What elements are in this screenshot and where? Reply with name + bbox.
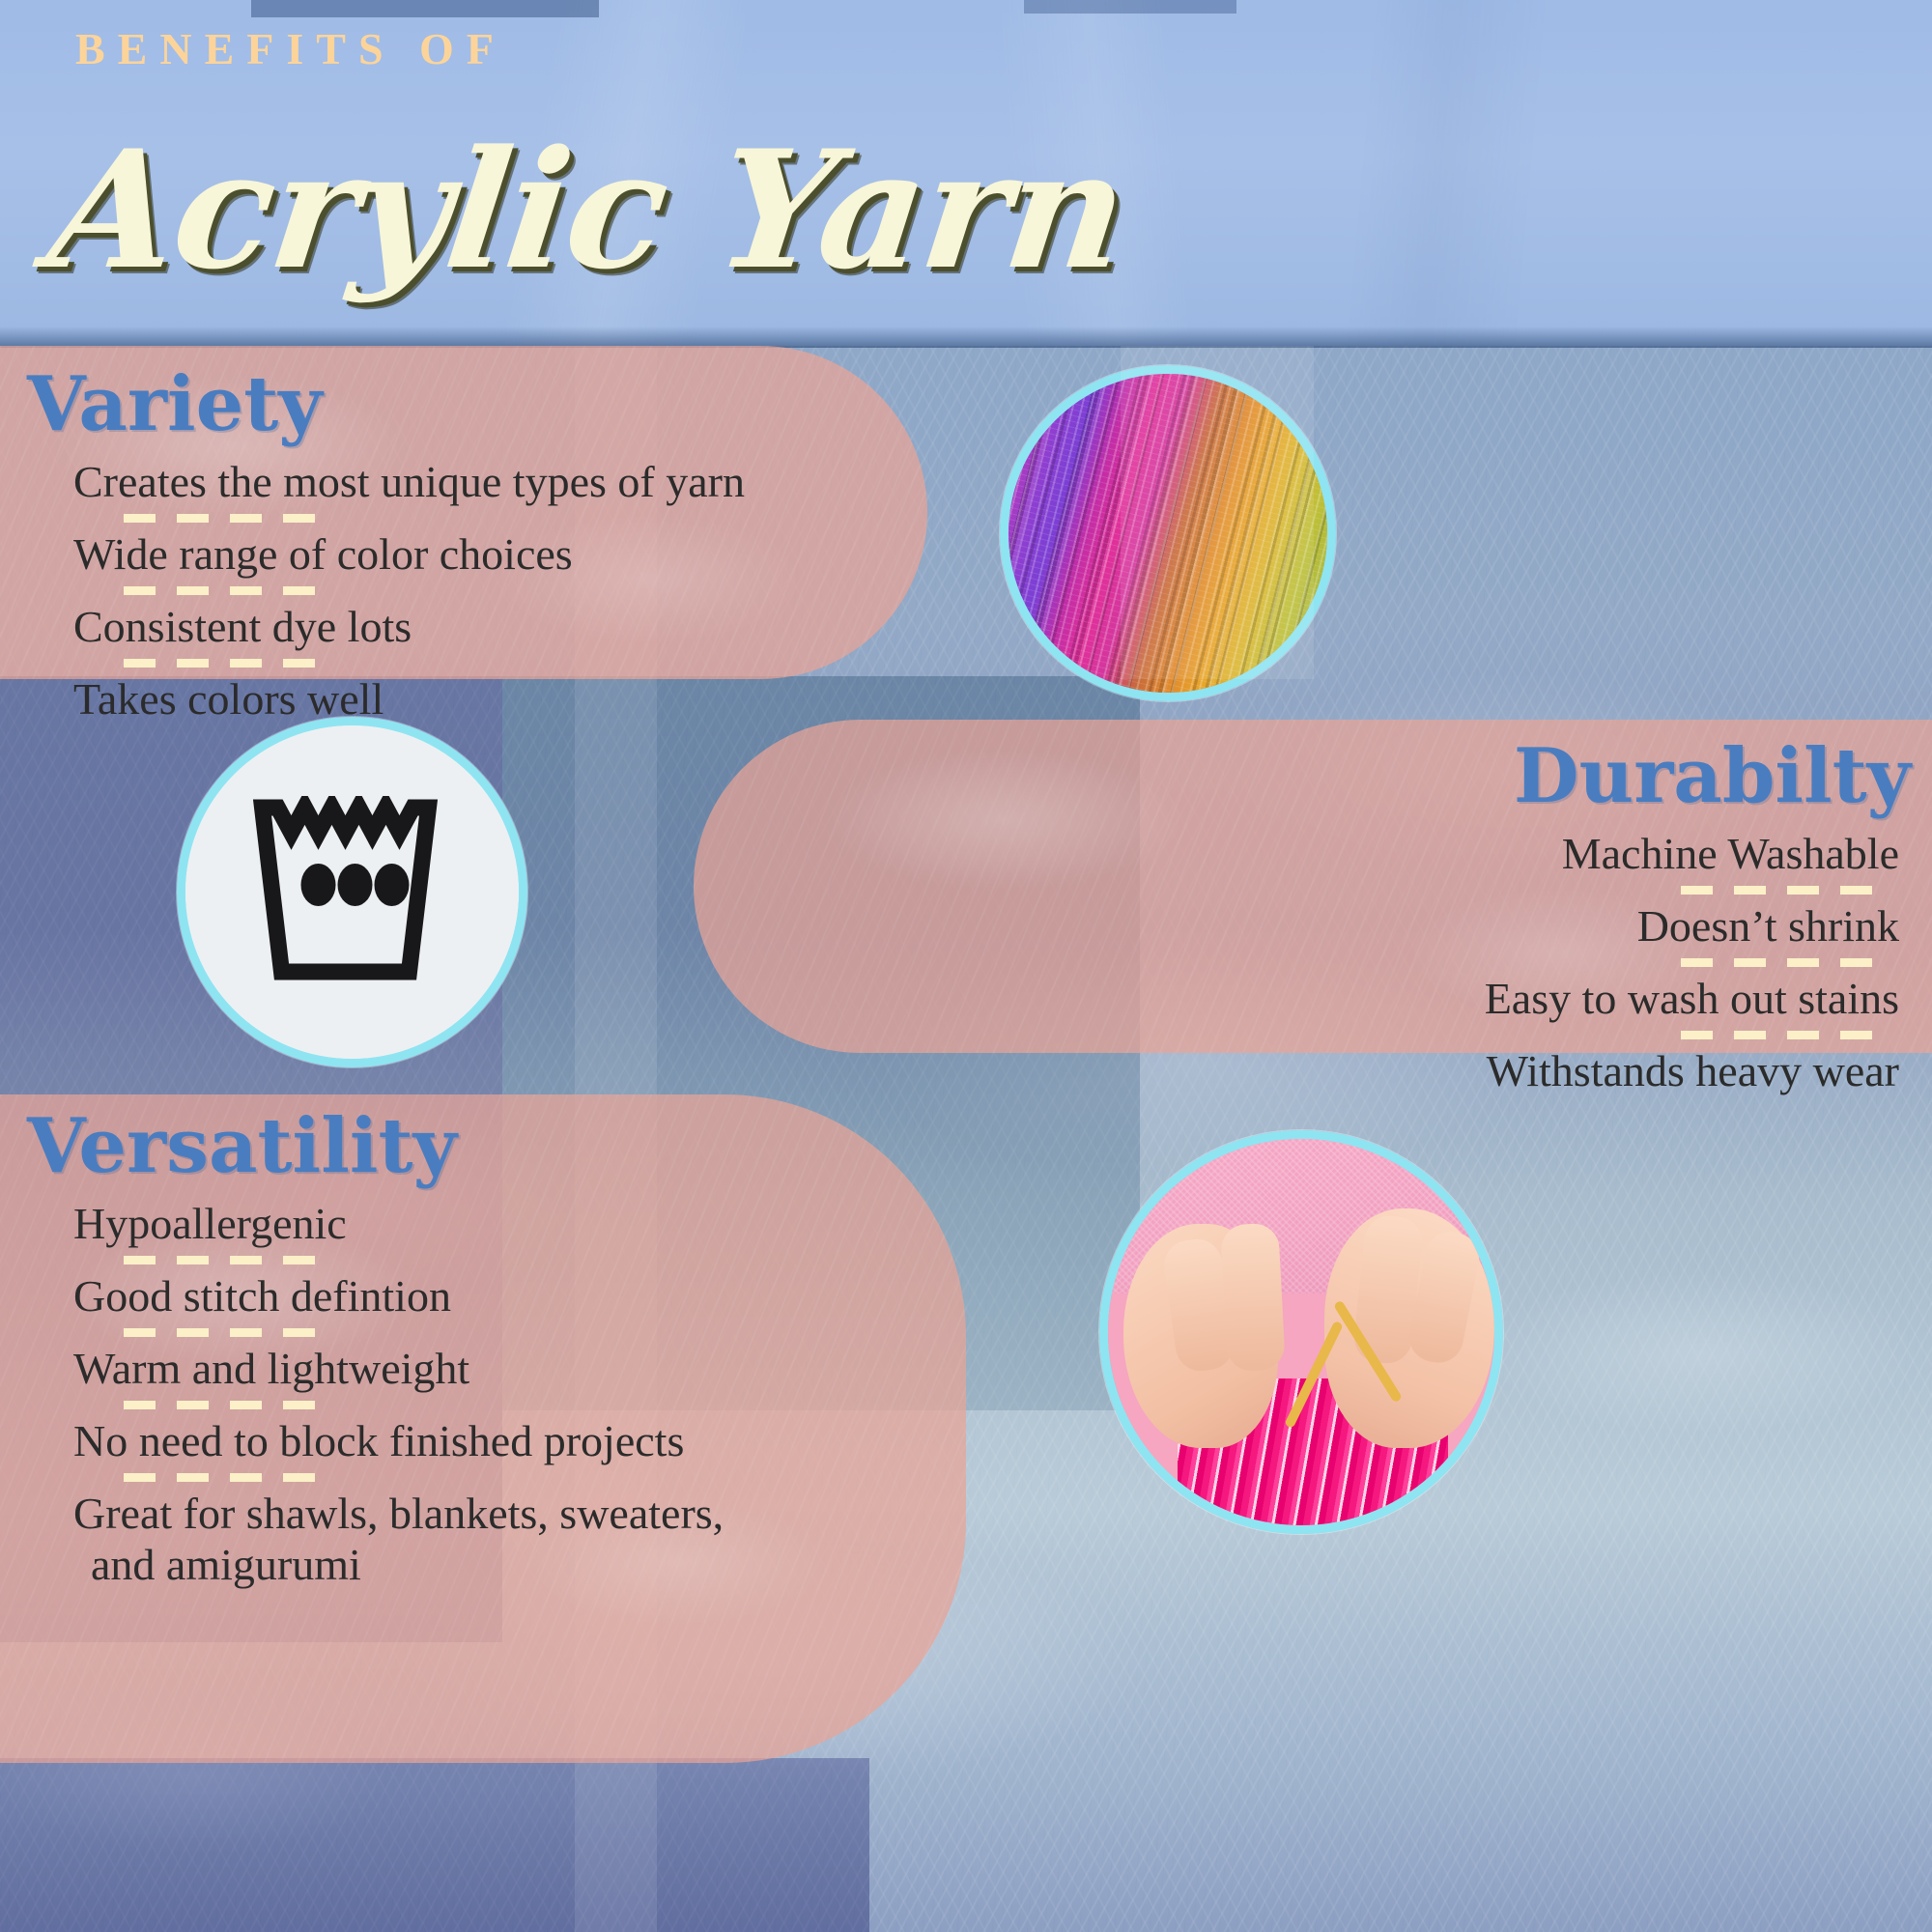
section-durability: Durabilty Machine Washable Doesn’t shrin… [1485, 739, 1911, 1096]
list-divider [27, 1328, 724, 1337]
list-divider [1485, 886, 1911, 895]
list-divider [27, 1473, 724, 1482]
section-versatility: Versatility Hypoallergenic Good stitch d… [27, 1109, 724, 1590]
dashed-divider [124, 586, 327, 595]
list-item-label: Withstands heavy wear [1485, 1045, 1899, 1096]
dashed-divider [124, 1473, 327, 1482]
list-divider [27, 659, 745, 668]
list-item-label: Good stitch defintion [73, 1270, 724, 1321]
list-item-label: Warm and lightweight [73, 1343, 724, 1394]
list-item-label: Wide range of color choices [73, 528, 745, 580]
dashed-divider [124, 1256, 327, 1264]
dashed-divider [1681, 886, 1884, 895]
benefit-list-variety: Creates the most unique types of yarn Wi… [27, 456, 745, 724]
list-item-label-continued: and amigurumi [73, 1539, 724, 1590]
list-item: No need to block finished projects [27, 1415, 724, 1466]
list-item: Withstands heavy wear [1485, 1045, 1911, 1096]
image-yarn-skeins [1000, 365, 1336, 701]
section-heading-durability: Durabilty [1485, 739, 1911, 814]
dashed-divider [124, 1401, 327, 1409]
list-divider [1485, 958, 1911, 967]
list-divider [27, 1401, 724, 1409]
dashed-divider [124, 1328, 327, 1337]
list-item: Takes colors well [27, 673, 745, 724]
list-divider [27, 1256, 724, 1264]
machine-wash-icon [248, 796, 456, 989]
list-item-label: Doesn’t shrink [1485, 900, 1899, 952]
list-item: Machine Washable [1485, 828, 1911, 879]
list-item-label: Creates the most unique types of yarn [73, 456, 745, 507]
page-title: Acrylic Yarn [36, 106, 1126, 338]
yarn-fiber-texture [1009, 374, 1327, 693]
header-dark-strip-left [251, 0, 599, 17]
list-item-label: Great for shawls, blankets, sweaters, [73, 1488, 724, 1539]
image-wash-care-symbol [177, 717, 527, 1067]
list-item: Warm and lightweight [27, 1343, 724, 1394]
list-item: Hypoallergenic [27, 1198, 724, 1249]
kicker-text: BENEFITS OF [75, 23, 506, 74]
background-tint-bottom [0, 1758, 869, 1932]
list-item-label: Easy to wash out stains [1485, 973, 1899, 1024]
list-item: Doesn’t shrink [1485, 900, 1911, 952]
list-divider [1485, 1031, 1911, 1039]
benefit-list-durability: Machine Washable Doesn’t shrink Easy to … [1485, 828, 1911, 1096]
list-item: Consistent dye lots [27, 601, 745, 652]
list-divider [27, 586, 745, 595]
list-item-label: Takes colors well [73, 673, 745, 724]
list-item: Good stitch defintion [27, 1270, 724, 1321]
section-heading-versatility: Versatility [27, 1109, 724, 1184]
list-item-label: Consistent dye lots [73, 601, 745, 652]
list-item: Great for shawls, blankets, sweaters, an… [27, 1488, 724, 1590]
dashed-divider [1681, 1031, 1884, 1039]
infographic-canvas: BENEFITS OF Acrylic Yarn Variety Creates… [0, 0, 1932, 1932]
knitting-hands-photo [1108, 1139, 1494, 1525]
image-knitting-hands [1099, 1130, 1503, 1534]
dashed-divider [1681, 958, 1884, 967]
list-item-label: No need to block finished projects [73, 1415, 724, 1466]
section-heading-variety: Variety [27, 367, 745, 442]
header-dark-strip-right [1024, 0, 1236, 14]
list-item: Wide range of color choices [27, 528, 745, 580]
dashed-divider [124, 514, 327, 523]
dashed-divider [124, 659, 327, 668]
list-divider [27, 514, 745, 523]
list-item-label: Hypoallergenic [73, 1198, 724, 1249]
list-item-label: Machine Washable [1485, 828, 1899, 879]
section-variety: Variety Creates the most unique types of… [27, 367, 745, 724]
list-item: Creates the most unique types of yarn [27, 456, 745, 507]
list-item: Easy to wash out stains [1485, 973, 1911, 1024]
finger [1220, 1223, 1286, 1373]
benefit-list-versatility: Hypoallergenic Good stitch defintion War… [27, 1198, 724, 1590]
